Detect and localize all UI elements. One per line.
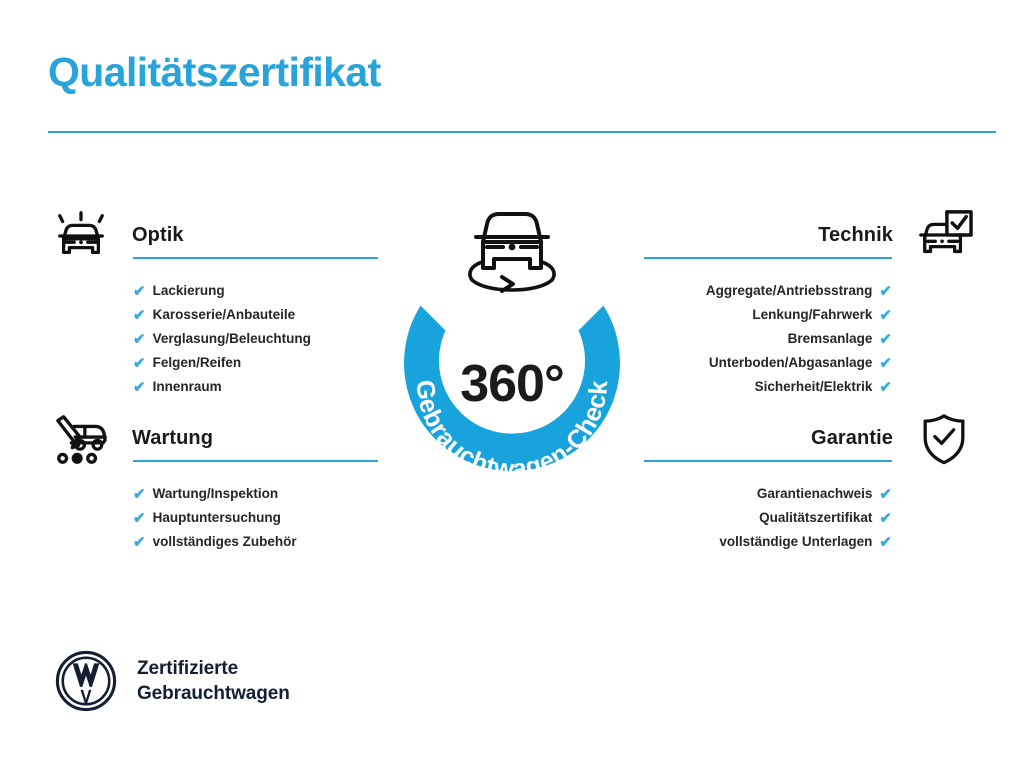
check-icon: ✔ — [133, 487, 146, 502]
check-icon: ✔ — [879, 511, 892, 526]
car-front-shine-icon — [44, 205, 118, 267]
list-item: ✔ vollständiges Zubehör — [40, 530, 460, 554]
gebrauchtwagen-check-badge: Gebrauchtwagen-Check 360° — [373, 196, 651, 496]
footer-brand-text: Zertifizierte Gebrauchtwagen — [137, 656, 290, 706]
section-garantie-title: Garantie — [811, 427, 893, 450]
check-icon: ✔ — [133, 535, 146, 550]
list-item: Qualitätszertifikat ✔ — [565, 506, 985, 530]
check-icon: ✔ — [133, 332, 146, 347]
shield-check-icon — [907, 408, 981, 470]
check-icon: ✔ — [879, 535, 892, 550]
check-icon: ✔ — [879, 380, 892, 395]
check-icon: ✔ — [879, 308, 892, 323]
footer-brand-logo: Zertifizierte Gebrauchtwagen — [55, 650, 290, 712]
section-optik-title: Optik — [132, 224, 184, 247]
list-item-label: Lenkung/Fahrwerk — [752, 308, 872, 322]
list-item-label: Lackierung — [153, 284, 225, 298]
check-icon: ✔ — [879, 487, 892, 502]
list-item-label: Wartung/Inspektion — [153, 487, 279, 501]
section-wartung-underline — [133, 460, 378, 462]
page-title: Qualitätszertifikat — [48, 50, 381, 95]
list-item: vollständige Unterlagen ✔ — [565, 530, 985, 554]
section-technik-underline — [644, 257, 892, 259]
section-wartung-title: Wartung — [132, 427, 213, 450]
check-icon: ✔ — [879, 332, 892, 347]
check-icon: ✔ — [879, 284, 892, 299]
list-item-label: Innenraum — [153, 380, 222, 394]
footer-brand-line2: Gebrauchtwagen — [137, 681, 290, 706]
title-divider — [48, 131, 996, 133]
check-icon: ✔ — [879, 356, 892, 371]
check-icon: ✔ — [133, 356, 146, 371]
check-icon: ✔ — [133, 511, 146, 526]
list-item-label: Sicherheit/Elektrik — [755, 380, 873, 394]
list-item-label: Aggregate/Antriebsstrang — [706, 284, 873, 298]
list-item-label: Unterboden/Abgasanlage — [709, 356, 873, 370]
check-icon: ✔ — [133, 380, 146, 395]
list-item-label: Bremsanlage — [788, 332, 873, 346]
list-item-label: Felgen/Reifen — [153, 356, 242, 370]
list-item-label: Karosserie/Anbauteile — [153, 308, 296, 322]
list-item: ✔ Hauptuntersuchung — [40, 506, 460, 530]
section-garantie-underline — [644, 460, 892, 462]
volkswagen-logo-icon — [55, 650, 117, 712]
section-optik-underline — [133, 257, 378, 259]
list-item-label: Hauptuntersuchung — [153, 511, 281, 525]
footer-brand-line1: Zertifizierte — [137, 656, 290, 681]
check-icon: ✔ — [133, 284, 146, 299]
certificate-page: Qualitätszertifikat Optik ✔ Lackierung — [0, 0, 1024, 768]
list-item-label: Garantienachweis — [757, 487, 873, 501]
list-item-label: Qualitätszertifikat — [759, 511, 872, 525]
car-front-checkbox-icon — [907, 205, 981, 267]
list-item-label: Verglasung/Beleuchtung — [153, 332, 311, 346]
check-icon: ✔ — [133, 308, 146, 323]
list-item-label: vollständiges Zubehör — [153, 535, 297, 549]
car-service-pen-icon — [44, 408, 118, 470]
section-technik-title: Technik — [818, 224, 893, 247]
list-item-label: vollständige Unterlagen — [719, 535, 872, 549]
badge-ring: Gebrauchtwagen-Check — [382, 274, 642, 490]
